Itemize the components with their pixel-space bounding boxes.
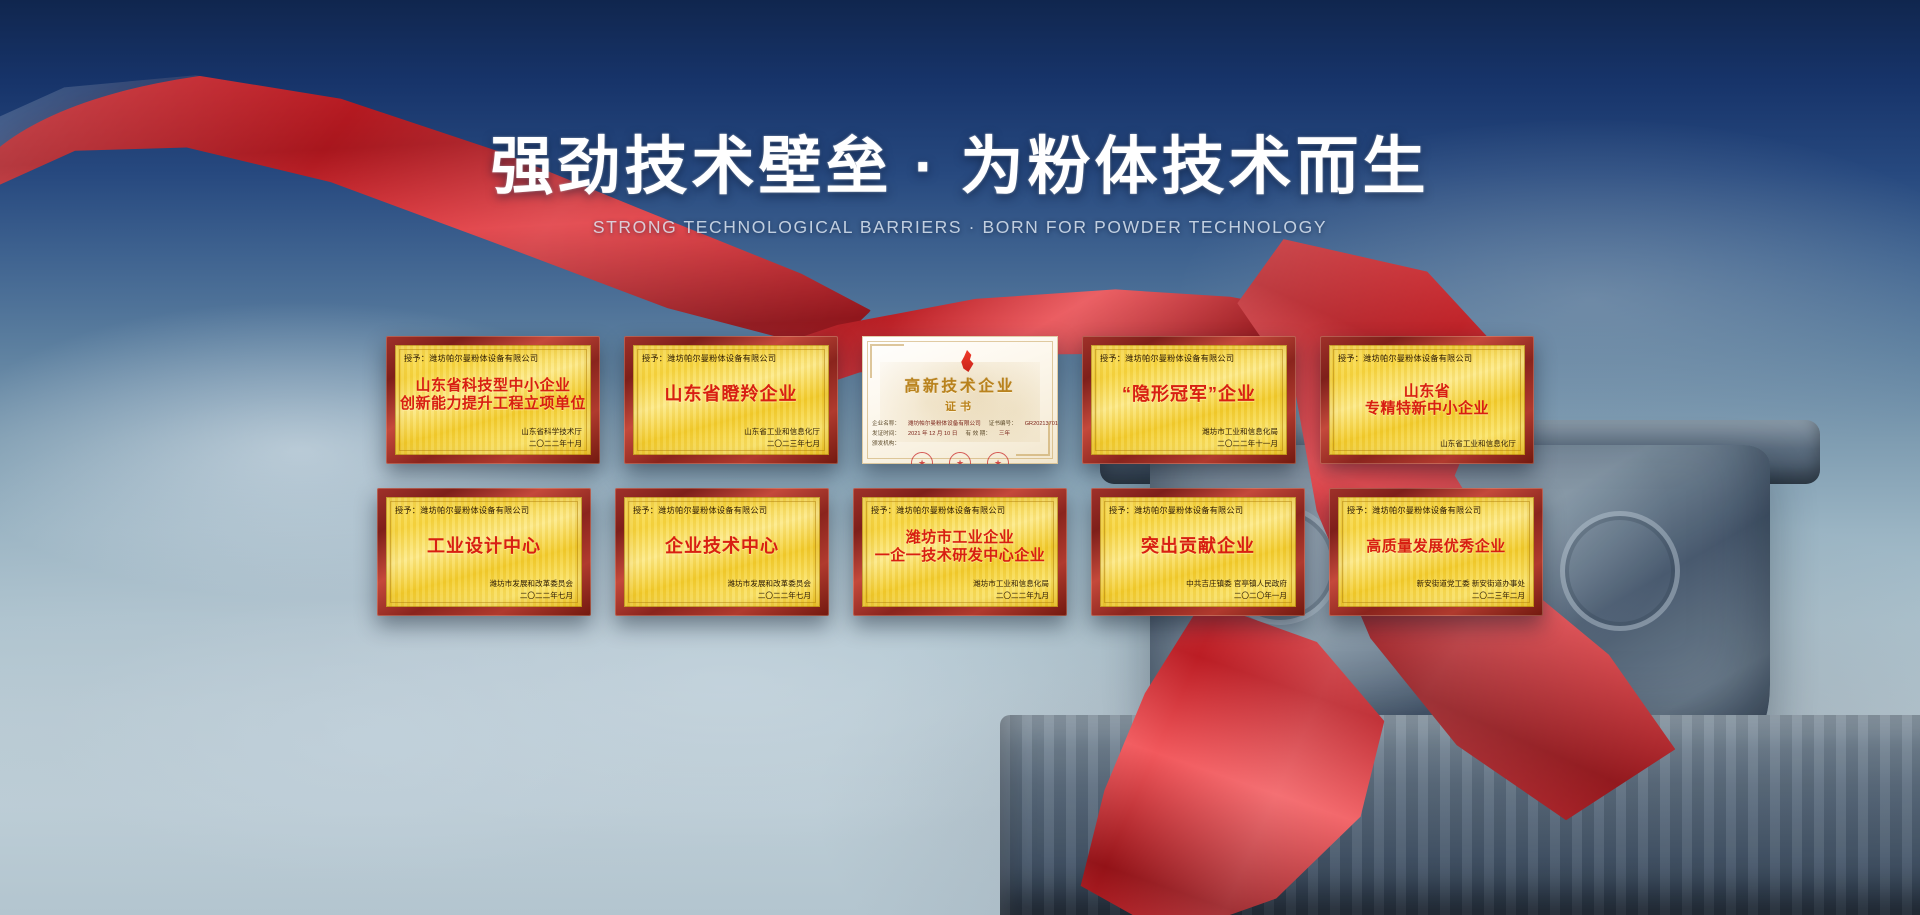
award-title-line: 突出贡献企业 (1141, 536, 1255, 557)
award-recipient: 授予：潍坊帕尔曼粉体设备有限公司 (633, 504, 811, 516)
awards-grid: 授予：潍坊帕尔曼粉体设备有限公司 山东省科技型中小企业 创新能力提升工程立项单位… (0, 336, 1920, 616)
awards-row-top: 授予：潍坊帕尔曼粉体设备有限公司 山东省科技型中小企业 创新能力提升工程立项单位… (0, 336, 1920, 464)
award-issuer: 潍坊市发展和改革委员会 (633, 578, 811, 589)
page-title: 强劲技术壁垒 · 为粉体技术而生 (0, 132, 1920, 203)
award-footer: 山东省工业和信息化厅 二〇二三年七月 (642, 426, 820, 449)
certificate-field-key: 证书编号： (989, 420, 1017, 430)
banner-stage: 强劲技术壁垒 · 为粉体技术而生 STRONG TECHNOLOGICAL BA… (0, 0, 1920, 915)
award-title-line: 企业技术中心 (665, 536, 779, 557)
award-plaque[interactable]: 授予：潍坊帕尔曼粉体设备有限公司 企业技术中心 潍坊市发展和改革委员会 二〇二二… (615, 488, 829, 616)
award-date: 二〇二〇年一月 (1109, 590, 1287, 601)
certificate-subtitle: 证书 (945, 398, 975, 414)
certificate-field-key: 发证时间： (872, 430, 900, 440)
hero-heading-group: 强劲技术壁垒 · 为粉体技术而生 STRONG TECHNOLOGICAL BA… (0, 132, 1920, 238)
award-issuer: 山东省科学技术厅 (404, 426, 582, 437)
award-footer: 新安街道党工委 新安街道办事处 二〇二三年二月 (1347, 578, 1525, 601)
award-date: 二〇二二年十一月 (1100, 438, 1278, 449)
high-tech-enterprise-certificate[interactable]: 高新技术企业 证书 企业名称： 潍坊帕尔曼粉体设备有限公司 证书编号： GR20… (862, 336, 1058, 464)
award-date: 二〇二三年二月 (1347, 590, 1525, 601)
award-footer: 山东省工业和信息化厅 (1338, 438, 1516, 449)
award-issuer: 山东省工业和信息化厅 (642, 426, 820, 437)
award-issuer: 潍坊市工业和信息化局 (1100, 426, 1278, 437)
seal-icon (911, 452, 933, 464)
award-title-line: 工业设计中心 (427, 536, 541, 557)
award-plaque[interactable]: 授予：潍坊帕尔曼粉体设备有限公司 山东省科技型中小企业 创新能力提升工程立项单位… (386, 336, 600, 464)
certificate-title: 高新技术企业 (904, 374, 1015, 396)
award-plaque[interactable]: 授予：潍坊帕尔曼粉体设备有限公司 山东省 专精特新中小企业 山东省工业和信息化厅 (1320, 336, 1534, 464)
certificate-field-key: 企业名称： (872, 420, 900, 430)
certificate-field-key: 颁发机构： (872, 440, 900, 450)
award-date: 二〇二二年九月 (871, 590, 1049, 601)
award-plaque[interactable]: 授予：潍坊帕尔曼粉体设备有限公司 高质量发展优秀企业 新安街道党工委 新安街道办… (1329, 488, 1543, 616)
certificate-field-value: 三年 (999, 430, 1010, 440)
award-title: 高质量发展优秀企业 (1347, 517, 1525, 576)
award-recipient: 授予：潍坊帕尔曼粉体设备有限公司 (1338, 352, 1516, 364)
red-ribbon-tail (994, 579, 1446, 915)
award-date: 二〇二三年七月 (642, 438, 820, 449)
certificate-field-value: 潍坊帕尔曼粉体设备有限公司 (908, 420, 981, 430)
award-title: 山东省科技型中小企业 创新能力提升工程立项单位 (404, 365, 582, 424)
award-issuer: 潍坊市发展和改革委员会 (395, 578, 573, 589)
award-recipient: 授予：潍坊帕尔曼粉体设备有限公司 (1109, 504, 1287, 516)
award-title: 潍坊市工业企业 一企一技术研发中心企业 (871, 517, 1049, 576)
award-recipient: 授予：潍坊帕尔曼粉体设备有限公司 (395, 504, 573, 516)
award-issuer: 潍坊市工业和信息化局 (871, 578, 1049, 589)
ding-base (1000, 715, 1920, 915)
award-title-line: “隐形冠军”企业 (1122, 384, 1256, 405)
award-footer: 中共吉庄镇委 官亭镇人民政府 二〇二〇年一月 (1109, 578, 1287, 601)
award-title: 工业设计中心 (395, 517, 573, 576)
award-plaque[interactable]: 授予：潍坊帕尔曼粉体设备有限公司 突出贡献企业 中共吉庄镇委 官亭镇人民政府 二… (1091, 488, 1305, 616)
award-recipient: 授予：潍坊帕尔曼粉体设备有限公司 (871, 504, 1049, 516)
award-footer: 潍坊市发展和改革委员会 二〇二二年七月 (395, 578, 573, 601)
award-title-line: 潍坊市工业企业 (906, 529, 1015, 547)
award-title-line: 高质量发展优秀企业 (1366, 538, 1506, 556)
award-title-line: 山东省 (1404, 383, 1451, 401)
award-issuer: 新安街道党工委 新安街道办事处 (1347, 578, 1525, 589)
award-title-line: 创新能力提升工程立项单位 (400, 395, 586, 413)
award-date: 二〇二二年七月 (395, 590, 573, 601)
awards-row-bottom: 授予：潍坊帕尔曼粉体设备有限公司 工业设计中心 潍坊市发展和改革委员会 二〇二二… (0, 488, 1920, 616)
certificate-field-value: GR202137010160 (1025, 420, 1058, 430)
award-title: 山东省瞪羚企业 (642, 365, 820, 424)
award-recipient: 授予：潍坊帕尔曼粉体设备有限公司 (404, 352, 582, 364)
cloud-decoration (60, 600, 680, 880)
award-recipient: 授予：潍坊帕尔曼粉体设备有限公司 (642, 352, 820, 364)
award-footer: 山东省科学技术厅 二〇二二年十月 (404, 426, 582, 449)
award-issuer: 山东省工业和信息化厅 (1338, 438, 1516, 449)
certificate-field-value: 2021 年 12 月 10 日 (908, 430, 957, 440)
award-footer: 潍坊市工业和信息化局 二〇二二年十一月 (1100, 426, 1278, 449)
seal-icon (987, 452, 1009, 464)
award-plaque[interactable]: 授予：潍坊帕尔曼粉体设备有限公司 潍坊市工业企业 一企一技术研发中心企业 潍坊市… (853, 488, 1067, 616)
certificate-corner-ornament (870, 344, 904, 378)
award-footer: 潍坊市发展和改革委员会 二〇二二年七月 (633, 578, 811, 601)
award-plaque[interactable]: 授予：潍坊帕尔曼粉体设备有限公司 “隐形冠军”企业 潍坊市工业和信息化局 二〇二… (1082, 336, 1296, 464)
award-title: 山东省 专精特新中小企业 (1338, 365, 1516, 436)
award-title: 突出贡献企业 (1109, 517, 1287, 576)
certificate-seals (872, 452, 1048, 464)
award-issuer: 中共吉庄镇委 官亭镇人民政府 (1109, 578, 1287, 589)
award-date: 二〇二二年十月 (404, 438, 582, 449)
award-title: 企业技术中心 (633, 517, 811, 576)
page-subtitle: STRONG TECHNOLOGICAL BARRIERS · BORN FOR… (0, 217, 1920, 238)
award-title-line: 专精特新中小企业 (1365, 400, 1489, 418)
award-date: 二〇二二年七月 (633, 590, 811, 601)
seal-icon (949, 452, 971, 464)
certificate-fields: 企业名称： 潍坊帕尔曼粉体设备有限公司 证书编号： GR202137010160… (872, 420, 1048, 449)
award-plaque[interactable]: 授予：潍坊帕尔曼粉体设备有限公司 山东省瞪羚企业 山东省工业和信息化厅 二〇二三… (624, 336, 838, 464)
award-recipient: 授予：潍坊帕尔曼粉体设备有限公司 (1347, 504, 1525, 516)
award-title-line: 一企一技术研发中心企业 (875, 547, 1046, 565)
cloud-decoration (900, 640, 1800, 915)
award-plaque[interactable]: 授予：潍坊帕尔曼粉体设备有限公司 工业设计中心 潍坊市发展和改革委员会 二〇二二… (377, 488, 591, 616)
award-recipient: 授予：潍坊帕尔曼粉体设备有限公司 (1100, 352, 1278, 364)
award-title-line: 山东省科技型中小企业 (415, 377, 570, 395)
award-title: “隐形冠军”企业 (1100, 365, 1278, 424)
certificate-field-key: 有 效 期： (965, 430, 990, 440)
award-title-line: 山东省瞪羚企业 (665, 384, 798, 405)
award-footer: 潍坊市工业和信息化局 二〇二二年九月 (871, 578, 1049, 601)
